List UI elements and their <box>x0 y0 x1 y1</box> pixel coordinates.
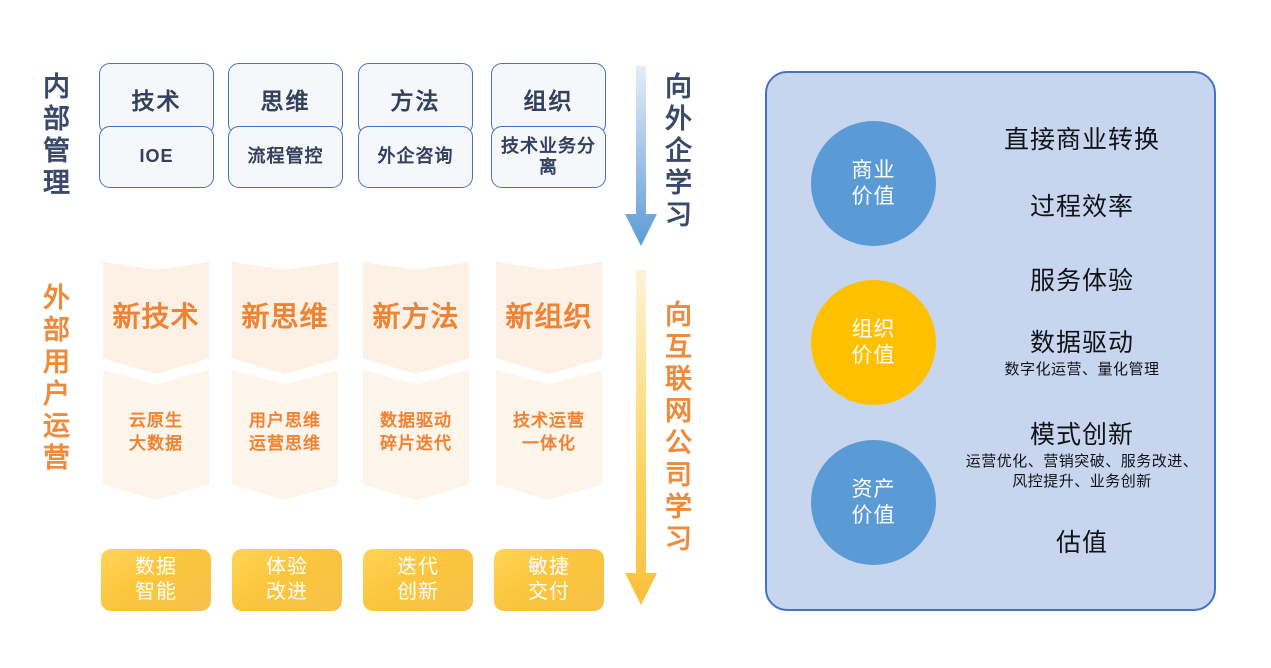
value-row-3: 数据驱动 数字化运营、量化管理 <box>957 328 1207 380</box>
chevron-detail-3: 技术运营一体化 <box>513 410 585 456</box>
top-card-0[interactable]: 技术 IOE <box>99 63 214 188</box>
row-label-external-user-operation: 外部用户运营 <box>40 283 67 475</box>
top-card-detail-2: 外企咨询 <box>358 126 473 188</box>
pill-1[interactable]: 体验改进 <box>232 549 342 611</box>
chevron-detail-1: 用户思维运营思维 <box>249 410 321 456</box>
value-sub-4: 运营优化、营销突破、服务改进、风控提升、业务创新 <box>947 452 1217 491</box>
arrow-label-learn-from-internet-company: 向互联网公司学习 <box>662 300 689 556</box>
pill-3[interactable]: 敏捷交付 <box>494 549 604 611</box>
top-card-title-1: 思维 <box>228 63 343 135</box>
value-main-5: 估值 <box>957 528 1207 558</box>
value-main-4: 模式创新 <box>947 420 1217 450</box>
top-card-title-2: 方法 <box>358 63 473 135</box>
value-main-2: 服务体验 <box>957 266 1207 296</box>
arrow-down-blue <box>624 66 658 251</box>
chevron-title-box-0: 新技术 <box>103 262 209 374</box>
chevron-title-box-3: 新组织 <box>496 262 602 374</box>
value-row-5: 估值 <box>957 528 1207 560</box>
top-card-detail-0: IOE <box>99 126 214 188</box>
chevron-detail-box-3: 技术运营一体化 <box>496 370 602 500</box>
bubble-organization-value[interactable]: 组织价值 <box>811 280 936 405</box>
pill-0[interactable]: 数据智能 <box>101 549 211 611</box>
value-row-0: 直接商业转换 <box>957 125 1207 157</box>
chevron-title-box-1: 新思维 <box>232 262 338 374</box>
chevron-detail-box-1: 用户思维运营思维 <box>232 370 338 500</box>
chevron-title-1: 新思维 <box>241 295 328 335</box>
diagram-canvas: 内部管理 外部用户运营 向外企学习 向互联网公司学习 技术 IOE 思维 流程管… <box>0 0 1271 668</box>
chevron-detail-2: 数据驱动碎片迭代 <box>380 410 452 456</box>
value-row-4: 模式创新 运营优化、营销突破、服务改进、风控提升、业务创新 <box>947 420 1217 491</box>
value-main-3: 数据驱动 <box>957 328 1207 358</box>
pill-2[interactable]: 迭代创新 <box>363 549 473 611</box>
arrow-down-yellow <box>624 270 658 610</box>
chevron-title-2: 新方法 <box>372 295 459 335</box>
top-card-3[interactable]: 组织 技术业务分离 <box>491 63 606 188</box>
value-row-1: 过程效率 <box>957 192 1207 224</box>
chevron-1[interactable]: 新思维 用户思维运营思维 <box>232 262 338 500</box>
top-card-title-3: 组织 <box>491 63 606 135</box>
chevron-title-0: 新技术 <box>112 295 199 335</box>
top-card-1[interactable]: 思维 流程管控 <box>228 63 343 188</box>
value-panel: 商业价值 组织价值 资产价值 直接商业转换 过程效率 服务体验 数据驱动 数字化… <box>765 71 1216 611</box>
bubble-asset-value[interactable]: 资产价值 <box>811 440 936 565</box>
top-card-title-0: 技术 <box>99 63 214 135</box>
top-card-detail-1: 流程管控 <box>228 126 343 188</box>
top-card-detail-3: 技术业务分离 <box>491 126 606 188</box>
chevron-detail-box-0: 云原生大数据 <box>103 370 209 500</box>
chevron-title-box-2: 新方法 <box>363 262 469 374</box>
row-label-internal-management: 内部管理 <box>40 72 67 200</box>
bubble-business-value[interactable]: 商业价值 <box>811 121 936 246</box>
chevron-0[interactable]: 新技术 云原生大数据 <box>103 262 209 500</box>
value-main-0: 直接商业转换 <box>957 125 1207 155</box>
value-main-1: 过程效率 <box>957 192 1207 222</box>
value-row-2: 服务体验 <box>957 266 1207 298</box>
top-card-2[interactable]: 方法 外企咨询 <box>358 63 473 188</box>
value-sub-3: 数字化运营、量化管理 <box>957 360 1207 380</box>
chevron-3[interactable]: 新组织 技术运营一体化 <box>496 262 602 500</box>
arrow-label-learn-from-foreign-enterprise: 向外企学习 <box>662 72 689 232</box>
chevron-detail-box-2: 数据驱动碎片迭代 <box>363 370 469 500</box>
chevron-2[interactable]: 新方法 数据驱动碎片迭代 <box>363 262 469 500</box>
chevron-detail-0: 云原生大数据 <box>129 410 183 456</box>
chevron-title-3: 新组织 <box>505 295 592 335</box>
